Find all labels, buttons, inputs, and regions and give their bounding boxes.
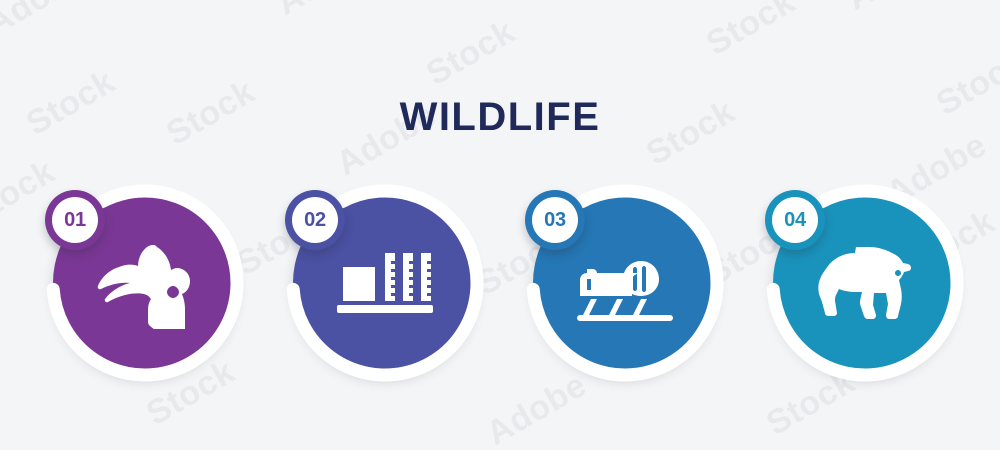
- step-number-badge[interactable]: 04: [765, 190, 825, 250]
- step-item-03[interactable]: 03: [525, 188, 725, 388]
- bookshelf-icon: [335, 237, 435, 329]
- infographic-steps: 01 02 03 04: [0, 0, 1000, 450]
- page-title: WILDLIFE: [0, 95, 1000, 140]
- step-item-01[interactable]: 01: [45, 188, 245, 388]
- step-number-label: 04: [772, 197, 818, 243]
- step-item-02[interactable]: 02: [285, 188, 485, 388]
- hornbill-bird-head-icon: [95, 237, 195, 329]
- step-item-04[interactable]: 04: [765, 188, 965, 388]
- sled-icon: [575, 237, 675, 329]
- step-number-badge[interactable]: 02: [285, 190, 345, 250]
- step-number-label: 01: [52, 197, 98, 243]
- step-number-badge[interactable]: 01: [45, 190, 105, 250]
- step-number-label: 02: [292, 197, 338, 243]
- step-number-label: 03: [532, 197, 578, 243]
- step-number-badge[interactable]: 03: [525, 190, 585, 250]
- polar-bear-icon: [815, 237, 915, 329]
